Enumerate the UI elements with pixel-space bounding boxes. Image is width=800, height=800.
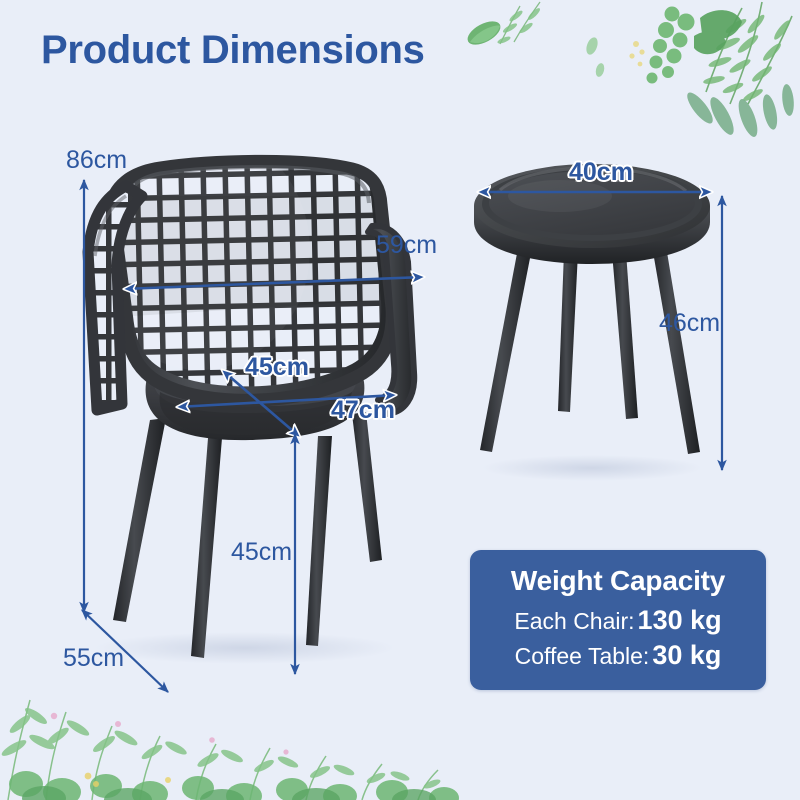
page-title: Product Dimensions	[41, 28, 425, 73]
dim-label-chair-seat-height: 45cm	[231, 538, 292, 567]
weight-capacity-row-table: Coffee Table:30 kg	[515, 638, 722, 673]
dim-label-chair-width: 59cm	[376, 231, 437, 260]
dim-label-chair-seat-depth: 45cm	[245, 353, 309, 382]
dim-label-table-height: 46cm	[659, 309, 720, 338]
dim-label-chair-depth: 55cm	[63, 644, 124, 673]
weight-capacity-row-chair: Each Chair:130 kg	[514, 603, 721, 638]
dim-label-chair-height: 86cm	[66, 146, 127, 175]
weight-capacity-card: Weight Capacity Each Chair:130 kg Coffee…	[470, 550, 766, 690]
infographic-canvas: Product Dimensions 86cm 59cm 45cm 47cm 4…	[0, 0, 800, 800]
weight-capacity-title: Weight Capacity	[511, 563, 725, 598]
weight-row-label: Coffee Table:	[515, 643, 650, 669]
weight-row-value: 130 kg	[638, 605, 722, 635]
dim-label-chair-seat-width: 47cm	[331, 396, 395, 425]
dim-label-table-diameter: 40cm	[569, 158, 633, 187]
weight-row-value: 30 kg	[652, 640, 721, 670]
weight-row-label: Each Chair:	[514, 608, 634, 634]
